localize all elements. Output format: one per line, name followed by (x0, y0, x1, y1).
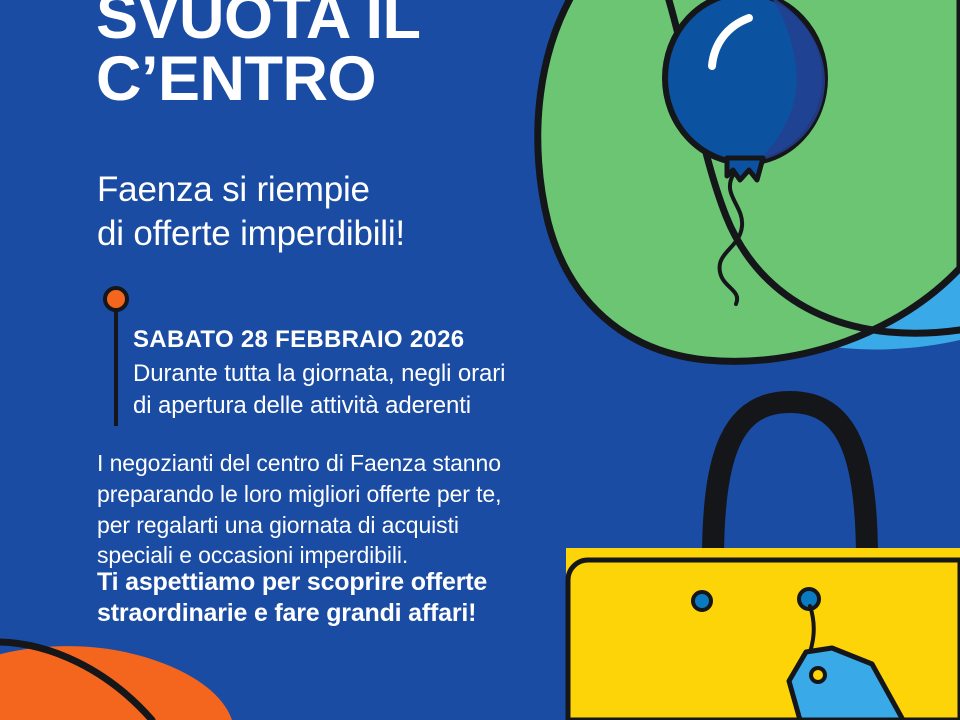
map-pin-icon (103, 286, 129, 312)
call-to-action-text: Ti aspettiamo per scoprire offerte strao… (97, 567, 587, 628)
poster-text-layer: SVUOTA IL C’ENTRO Faenza si riempie di o… (0, 0, 960, 720)
date-pin-marker (103, 286, 137, 426)
pin-stem-line (114, 310, 118, 426)
promo-poster: SVUOTA IL C’ENTRO Faenza si riempie di o… (0, 0, 960, 720)
body-paragraph: I negozianti del centro di Faenza stanno… (97, 448, 587, 571)
event-date-block: SABATO 28 FEBBRAIO 2026 Durante tutta la… (133, 325, 603, 421)
page-title: SVUOTA IL C’ENTRO (96, 0, 566, 111)
event-date: SABATO 28 FEBBRAIO 2026 (133, 325, 603, 355)
event-hours: Durante tutta la giornata, negli orari d… (133, 358, 603, 421)
poster-subtitle: Faenza si riempie di offerte imperdibili… (97, 168, 567, 256)
